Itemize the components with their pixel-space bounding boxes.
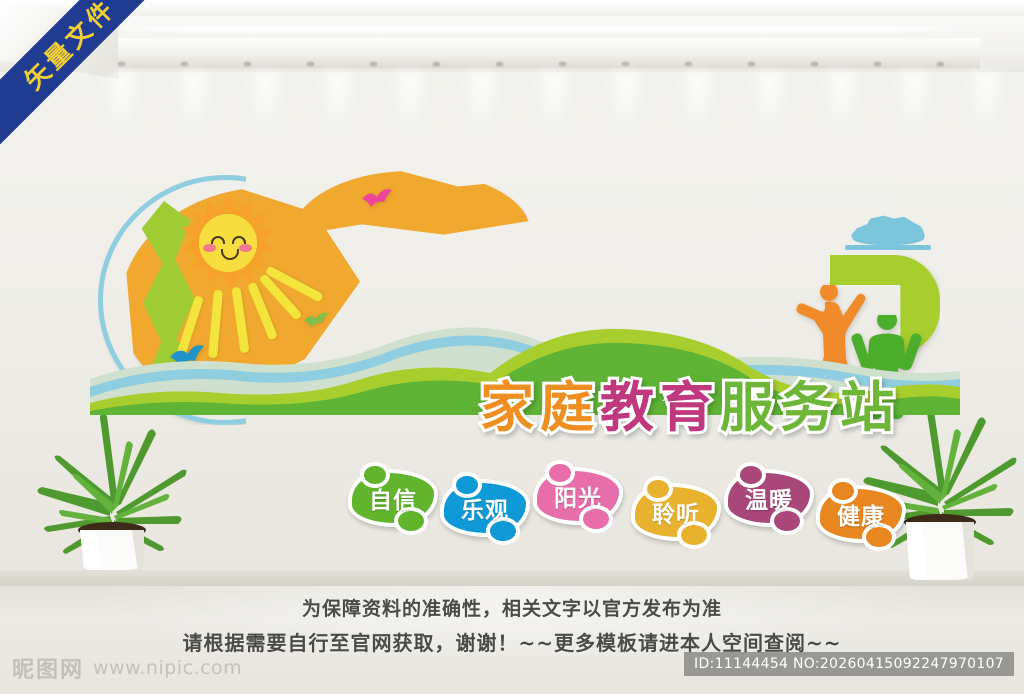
downlight: [496, 62, 503, 66]
badge-1[interactable]: 乐观: [440, 479, 530, 537]
downlight: [433, 62, 440, 66]
cloud-icon: [845, 215, 931, 251]
downlight: [937, 62, 944, 66]
title-char-4: 服: [720, 381, 774, 435]
downlight: [748, 62, 755, 66]
ceiling-lip: [0, 0, 1024, 16]
sun-cheek-right: [239, 244, 252, 252]
watermark-url: www.nipic.com: [93, 657, 242, 679]
sun-icon: [182, 197, 274, 289]
badge-label: 健康: [837, 497, 885, 531]
downlight: [307, 62, 314, 66]
badge-label: 温暖: [745, 481, 793, 515]
downlight: [811, 62, 818, 66]
title-char-2: 教: [600, 381, 654, 435]
badge-label: 自信: [369, 481, 417, 515]
title-char-0: 家: [480, 381, 534, 435]
cloud-base-bar: [845, 245, 931, 250]
downlight: [559, 62, 566, 66]
caption-line-1: 为保障资料的准确性，相关文字以官方发布为准: [0, 594, 1024, 621]
badge-label: 聆听: [652, 495, 700, 529]
id-badge: ID:11144454 NO:20260415092247970107: [684, 652, 1014, 676]
badge-5[interactable]: 健康: [816, 485, 906, 543]
wall-art: 家庭教育服务站 自信乐观阳光聆听温暖健康: [90, 165, 960, 415]
watermark: 昵图网 www.nipic.com: [12, 652, 242, 684]
pink-bird-icon: [360, 187, 394, 209]
downlight: [118, 62, 125, 66]
watermark-site-name: 昵图网: [12, 652, 84, 684]
cloud-body: [851, 215, 925, 245]
downlight: [685, 62, 692, 66]
light-beam: [950, 72, 1020, 232]
downlight: [370, 62, 377, 66]
title-char-6: 站: [840, 381, 894, 435]
title-char-5: 务: [780, 381, 834, 435]
title-char-1: 庭: [540, 381, 594, 435]
badge-4[interactable]: 温暖: [724, 469, 814, 527]
badge-label: 乐观: [461, 491, 509, 525]
sun-eye-left: [211, 236, 225, 244]
badge-row: 自信乐观阳光聆听温暖健康: [348, 465, 888, 537]
cove-light-strip: [100, 26, 980, 32]
caption-block: 为保障资料的准确性，相关文字以官方发布为准 请根据需要自行至官网获取，谢谢！~~…: [0, 594, 1024, 656]
badge-label: 阳光: [554, 479, 602, 513]
title-char-3: 育: [660, 381, 714, 435]
page-title: 家庭教育服务站: [480, 381, 894, 435]
ceiling-soffit: [110, 38, 980, 69]
sun-face: [199, 214, 257, 272]
downlight: [622, 62, 629, 66]
badge-3[interactable]: 聆听: [631, 483, 721, 541]
downlight: [181, 62, 188, 66]
plant-left: [22, 398, 202, 570]
sun-eye-right: [232, 236, 246, 244]
soffit-edge: [110, 66, 980, 71]
screenshot-root: 家庭教育服务站 自信乐观阳光聆听温暖健康 矢量文件 为保障资料的准确性，相关文字…: [0, 0, 1024, 694]
downlight: [244, 62, 251, 66]
sun-mouth: [221, 249, 239, 260]
badge-0[interactable]: 自信: [348, 469, 438, 527]
downlight: [874, 62, 881, 66]
badge-2[interactable]: 阳光: [533, 467, 623, 525]
sun-cheek-left: [203, 244, 216, 252]
